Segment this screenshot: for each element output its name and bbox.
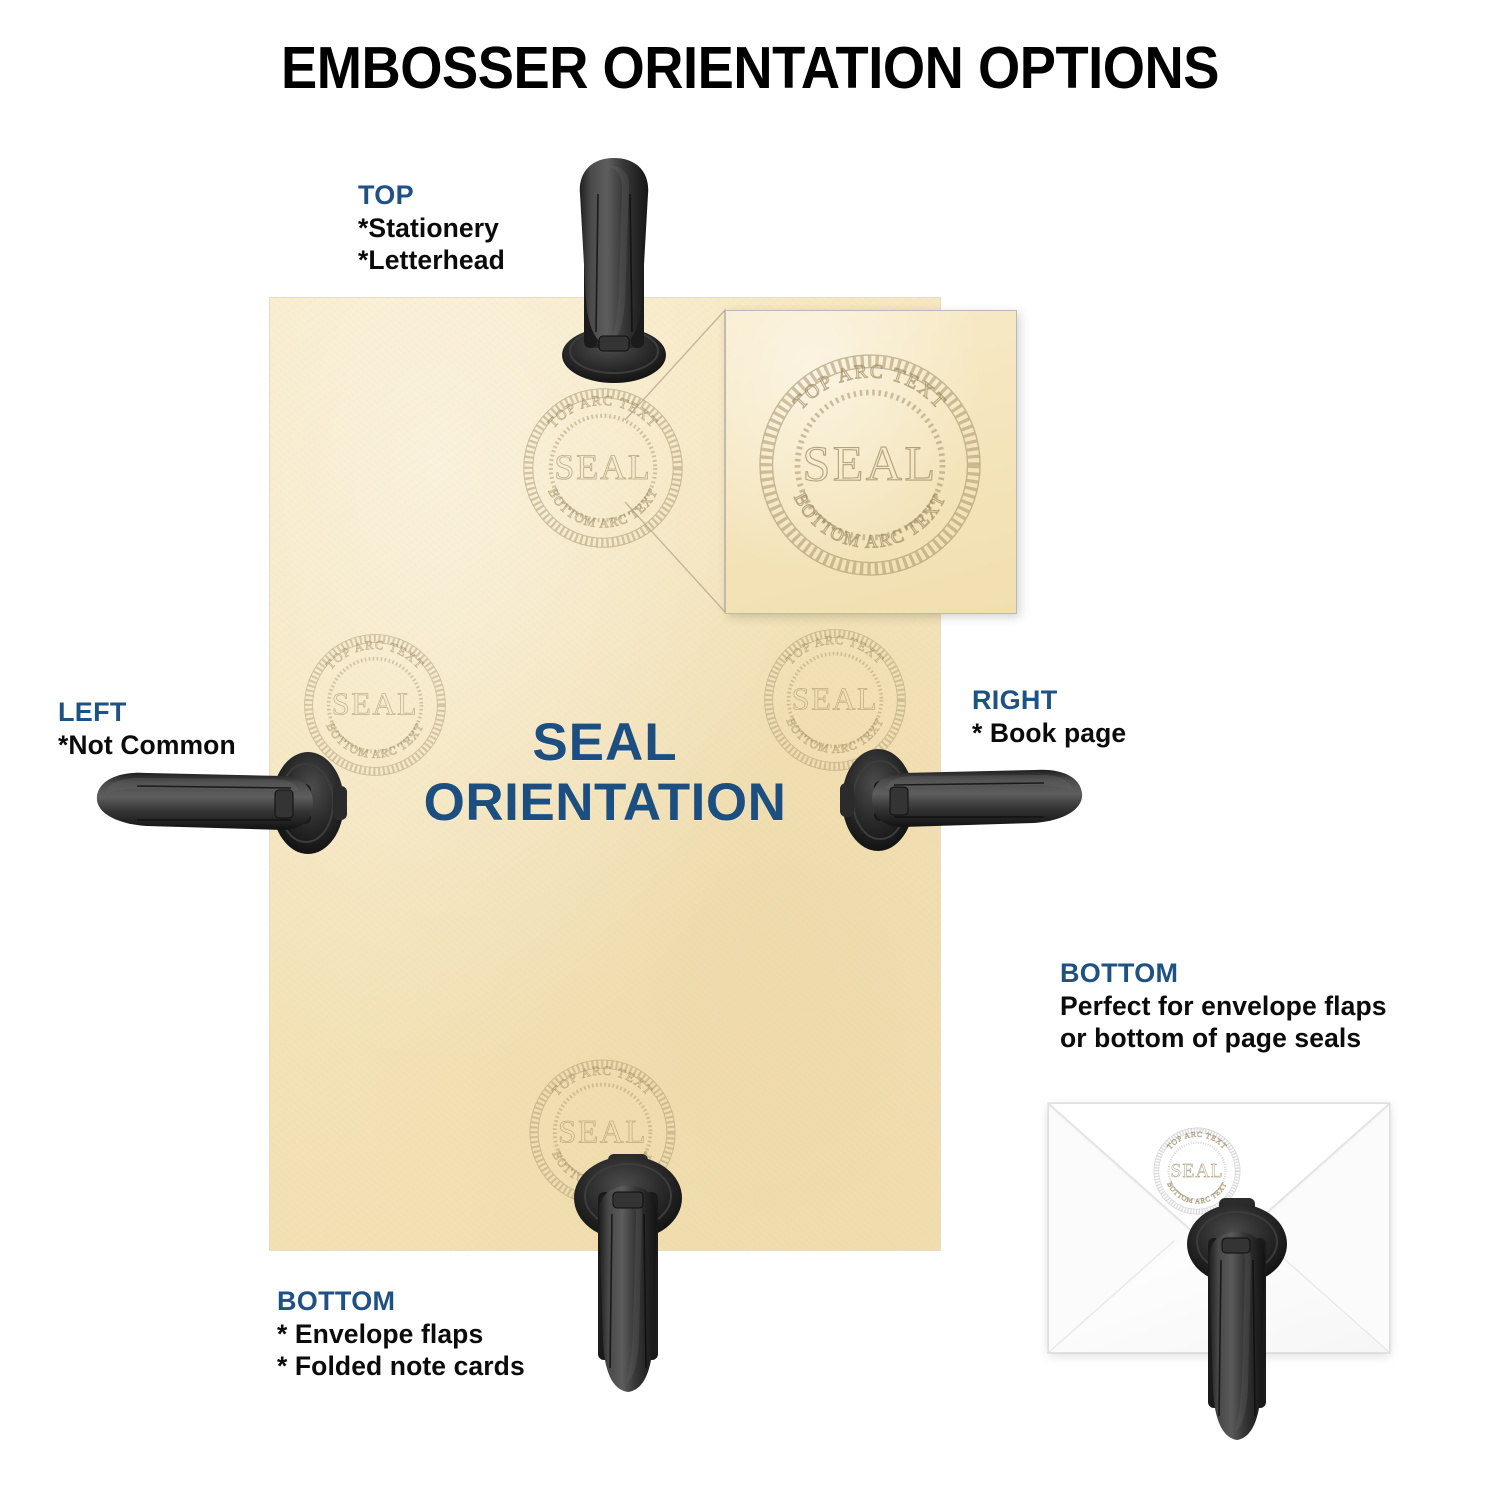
- callout-top-line1: *Stationery: [358, 212, 505, 245]
- page-title: EMBOSSER ORIENTATION OPTIONS: [60, 34, 1440, 102]
- embosser-left[interactable]: [85, 748, 347, 858]
- callout-top: TOP *Stationery *Letterhead: [358, 180, 505, 277]
- embosser-envelope[interactable]: [1174, 1198, 1300, 1448]
- callout-right: RIGHT * Book page: [972, 685, 1126, 749]
- callout-left-heading: LEFT: [58, 697, 236, 729]
- callout-bottom-envelope-line1: Perfect for envelope flaps: [1060, 990, 1387, 1023]
- callout-right-line1: * Book page: [972, 717, 1126, 750]
- callout-bottom-page-line2: * Folded note cards: [277, 1350, 525, 1383]
- embosser-right[interactable]: [838, 745, 1086, 855]
- seal-zoomed: TOP ARC TEXT BOTTOM ARC TEXT SEAL: [745, 340, 995, 590]
- svg-text:SEAL: SEAL: [792, 681, 878, 717]
- svg-text:SEAL: SEAL: [1171, 1161, 1224, 1182]
- callout-right-heading: RIGHT: [972, 685, 1126, 717]
- callout-bottom-page-heading: BOTTOM: [277, 1286, 525, 1318]
- svg-text:TOP ARC TEXT: TOP ARC TEXT: [549, 1064, 656, 1099]
- callout-top-heading: TOP: [358, 180, 505, 212]
- svg-text:SEAL: SEAL: [803, 435, 938, 491]
- embosser-top[interactable]: [546, 150, 682, 385]
- callout-left-line1: *Not Common: [58, 729, 236, 762]
- callout-bottom-envelope-line2: or bottom of page seals: [1060, 1022, 1387, 1055]
- callout-bottom-page: BOTTOM * Envelope flaps * Folded note ca…: [277, 1286, 525, 1383]
- callout-left: LEFT *Not Common: [58, 697, 236, 761]
- svg-text:TOP ARC TEXT: TOP ARC TEXT: [790, 361, 951, 414]
- embosser-bottom[interactable]: [560, 1152, 696, 1402]
- callout-bottom-page-line1: * Envelope flaps: [277, 1318, 525, 1351]
- infographic-canvas: EMBOSSER ORIENTATION OPTIONS TOP ARC TEX…: [0, 0, 1500, 1500]
- callout-top-line2: *Letterhead: [358, 244, 505, 277]
- svg-text:SEAL: SEAL: [558, 1114, 647, 1150]
- callout-bottom-envelope-heading: BOTTOM: [1060, 958, 1387, 990]
- svg-text:BOTTOM ARC TEXT: BOTTOM ARC TEXT: [790, 489, 950, 551]
- callout-bottom-envelope: BOTTOM Perfect for envelope flaps or bot…: [1060, 958, 1387, 1055]
